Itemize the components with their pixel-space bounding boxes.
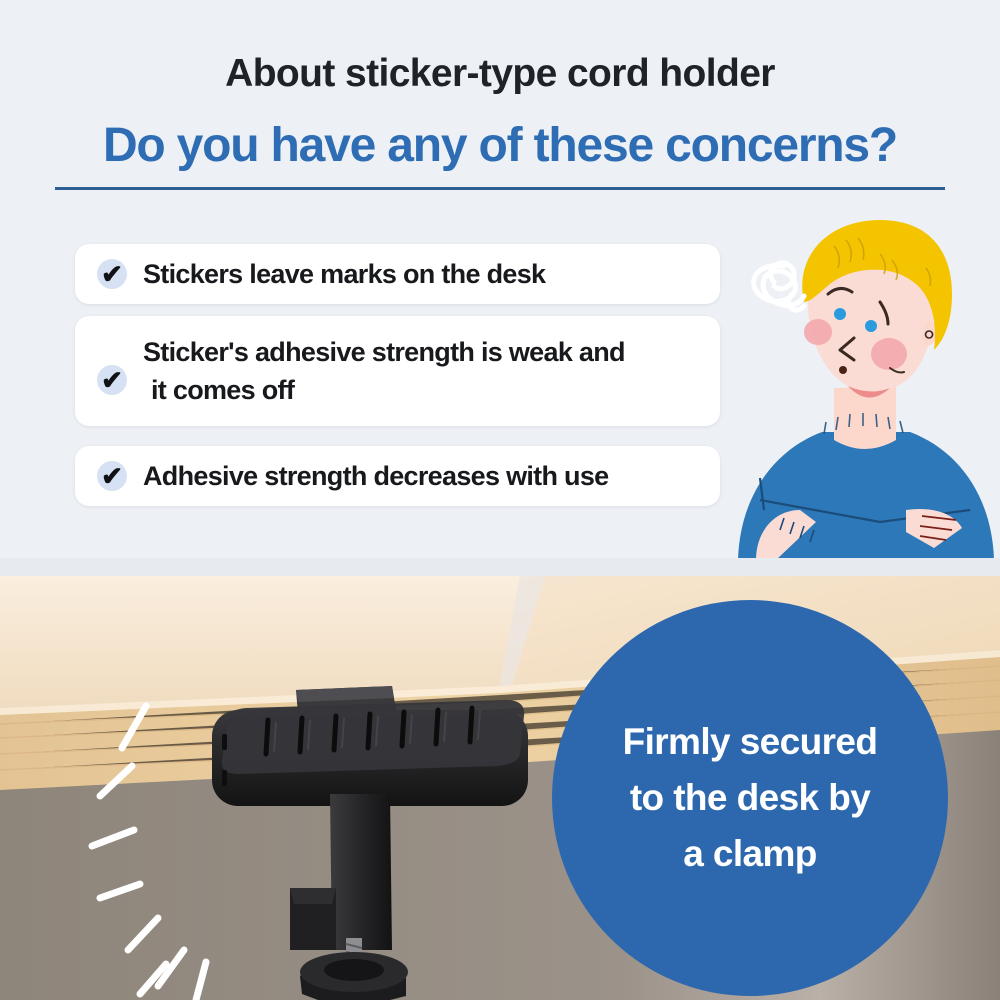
concern-text-2-line1: Sticker's adhesive strength is weak and <box>143 337 625 367</box>
left-cheek <box>804 319 832 345</box>
check-glyph: ✔ <box>97 365 127 395</box>
concern-card-2: ✔ Sticker's adhesive strength is weak an… <box>75 316 720 426</box>
concern-card-3: ✔ Adhesive strength decreases with use <box>75 446 720 506</box>
confusion-scribble-icon <box>754 263 804 310</box>
troubled-man-illustration <box>730 210 1000 560</box>
callout-badge: Firmly secured to the desk by a clamp <box>552 600 948 996</box>
callout-line-1: Firmly secured <box>623 714 878 770</box>
concern-text-2-line2: it comes off <box>143 371 625 409</box>
left-eye <box>834 308 846 320</box>
page-kicker: About sticker-type cord holder <box>0 52 1000 96</box>
concern-card-1: ✔ Stickers leave marks on the desk <box>75 244 720 304</box>
check-icon: ✔ <box>97 259 127 289</box>
check-icon: ✔ <box>97 365 127 395</box>
page-title: Do you have any of these concerns? <box>0 118 1000 173</box>
concern-text-3: Adhesive strength decreases with use <box>143 457 608 495</box>
clamp-jaw-top <box>290 888 336 904</box>
title-divider <box>55 187 945 190</box>
mole <box>839 366 847 374</box>
callout-line-2: to the desk by <box>630 770 870 826</box>
concern-text-1: Stickers leave marks on the desk <box>143 255 545 293</box>
concern-text-2: Sticker's adhesive strength is weak and … <box>143 333 625 410</box>
check-icon: ✔ <box>97 461 127 491</box>
clamp-thumbscrew-knob <box>300 952 408 1000</box>
right-eye <box>865 320 877 332</box>
clamp-stem <box>330 794 392 950</box>
check-glyph: ✔ <box>97 461 127 491</box>
callout-line-3: a clamp <box>683 826 817 882</box>
infographic-page: About sticker-type cord holder Do you ha… <box>0 0 1000 1000</box>
check-glyph: ✔ <box>97 259 127 289</box>
concerns-section: About sticker-type cord holder Do you ha… <box>0 0 1000 560</box>
right-cheek <box>871 338 907 370</box>
desk-top-left <box>0 576 520 708</box>
